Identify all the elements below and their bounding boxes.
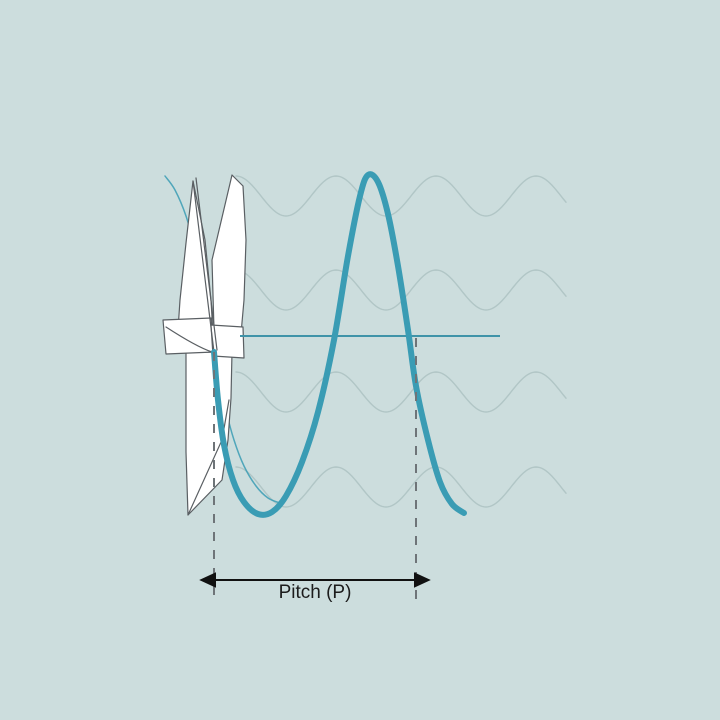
background-rect bbox=[0, 0, 720, 720]
pitch-label: Pitch (P) bbox=[279, 582, 352, 603]
propeller-pitch-diagram: Pitch (P) bbox=[0, 0, 720, 720]
hub-left bbox=[163, 318, 214, 354]
diagram-canvas: Pitch (P) bbox=[0, 0, 720, 720]
